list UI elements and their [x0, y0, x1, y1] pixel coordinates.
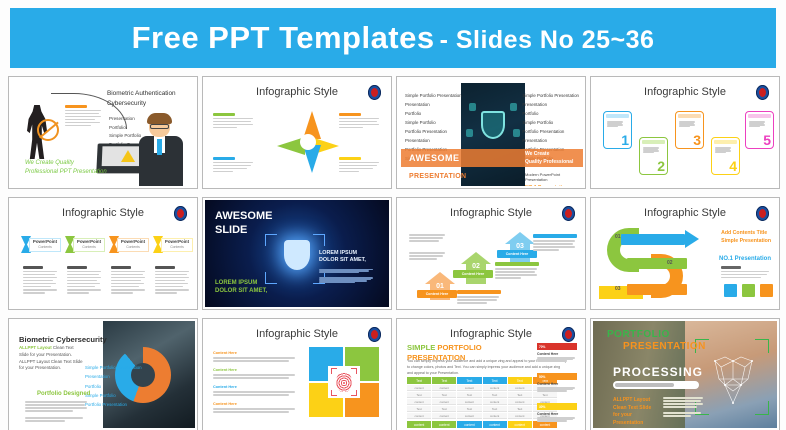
side-card-3: 30% Content Here: [537, 403, 577, 422]
banner-title-sub: - Slides No 25~36: [440, 26, 655, 54]
progress-bar-fill: [615, 383, 674, 387]
slide-10-item-4: Content Here: [213, 402, 297, 414]
step-box-3: 3: [675, 111, 704, 149]
chevron-banner-4: PowerPoint Contents: [153, 236, 193, 253]
slide-6-title: AWESOME SLIDE: [215, 210, 272, 238]
slide-thumbnail-2[interactable]: Infographic Style: [202, 76, 392, 189]
slide-thumbnail-3[interactable]: Simple Portfolio Presentation Presentati…: [396, 76, 586, 189]
table-row: contentcontentcontentcontentcontentconte…: [407, 413, 557, 419]
shield-icon: [481, 111, 505, 139]
slide-thumbnail-12[interactable]: PORTFOLIO PRESENTATION PROCESSING ALLPPT…: [590, 318, 780, 430]
tag-03: Content Here: [497, 250, 537, 258]
slide-11-title: Infographic Style: [399, 328, 583, 340]
allppt-logo-icon: [562, 327, 575, 342]
fingerprint-panel: [328, 366, 360, 398]
warning-triangle-icon: [121, 150, 135, 162]
businessman-figure-icon: [137, 115, 185, 185]
slide-5-column-1: [23, 266, 57, 295]
slide-9-checklist: Simple Portfolio Presentation Presentati…: [85, 363, 142, 409]
note-heading-bar: [65, 105, 87, 108]
chevron-banner-2: PowerPoint Contents: [65, 236, 105, 253]
table-footer-row: content content content content content …: [407, 421, 557, 428]
slide-5-column-2: [67, 266, 101, 295]
slide-7-note-a: [409, 234, 445, 243]
slide-7-card-green: [495, 262, 539, 280]
prohibition-icon: [37, 119, 59, 141]
step-number-03: 03: [615, 286, 621, 292]
slide-7-title: Infographic Style: [399, 207, 583, 219]
step-box-5: 5: [745, 111, 774, 149]
slide-thumbnail-1[interactable]: Biometric Authentication Cybersecurity P…: [8, 76, 198, 189]
slide-canvas-5: Infographic Style PowerPoint Contents Po…: [11, 200, 195, 307]
slide-thumbnail-10[interactable]: Infographic Style Content Here Content H…: [202, 318, 392, 430]
slide-5-column-3: [111, 266, 145, 295]
slide-10-item-1: Content Here: [213, 351, 297, 363]
allppt-logo-icon: [756, 85, 769, 100]
slide-2-text-bottomright: [339, 157, 381, 174]
slide-thumbnail-4[interactable]: Infographic Style 1 2 3: [590, 76, 780, 189]
content-bar-03: [627, 284, 687, 295]
slide-canvas-10: Infographic Style Content Here Content H…: [205, 321, 389, 428]
icon-card-green: [742, 284, 755, 297]
slide-grid: Biometric Authentication Cybersecurity P…: [8, 76, 780, 426]
slide-thumbnail-6[interactable]: AWESOME SLIDE LOREM IPSUM DOLOR SIT AMET…: [202, 197, 392, 310]
table-row: TextTextTextTextTextText: [407, 392, 557, 398]
allppt-logo-icon: [562, 206, 575, 221]
slide-3-title-block: AWESOME PRESENTATION: [405, 149, 461, 186]
slide-12-title-green: PORTFOLIO: [607, 329, 670, 340]
page-root: Free PPT Templates - Slides No 25~36 Bio…: [0, 0, 786, 430]
slide-8-right-text: [721, 266, 771, 280]
slide-2-title: Infographic Style: [205, 86, 389, 98]
content-bar-01: [621, 234, 685, 245]
slide-12-title-orange: PRESENTATION: [623, 341, 706, 352]
slide-canvas-4: Infographic Style 1 2 3: [593, 79, 777, 186]
tag-01: Content Here: [417, 290, 457, 298]
slide-2-text-topright: [339, 113, 381, 130]
slide-4-title: Infographic Style: [593, 86, 777, 98]
allppt-logo-icon: [756, 206, 769, 221]
table-row: contentcontentcontentcontentcontentconte…: [407, 399, 557, 405]
table-row: TextTextTextTextTextText: [407, 406, 557, 412]
slide-6-green-text: LOREM IPSUM DOLOR SIT AMET,: [215, 279, 267, 295]
slide-canvas-3: Simple Portfolio Presentation Presentati…: [399, 79, 583, 186]
slide-2-text-topleft: [213, 113, 255, 130]
slide-8-orange-heading: Add Contents Title Simple Presentation: [721, 230, 771, 246]
slide-thumbnail-8[interactable]: Infographic Style 01 02 03 Add Contents …: [590, 197, 780, 310]
chevron-banner-3: PowerPoint Contents: [109, 236, 149, 253]
slide-1-footer: We Create Quality Professional PPT Prese…: [25, 159, 107, 178]
slide-10-item-3: Content Here: [213, 385, 297, 397]
slide-thumbnail-9[interactable]: Biometric Cybersecurity ALLPPT Layout Cl…: [8, 318, 198, 430]
face-mesh-overlay: [707, 345, 761, 409]
shield-icon: [284, 240, 310, 270]
slide-1-title: Biometric Authentication Cybersecurity: [107, 89, 176, 108]
chevron-banner-1: PowerPoint Contents: [21, 236, 61, 253]
slide-9-title: Biometric Cybersecurity: [19, 335, 107, 344]
slide-9-subtext: [25, 401, 89, 424]
slide-7-card-orange: [457, 290, 501, 305]
fingerprint-icon: [336, 372, 352, 392]
step-box-1: 1: [603, 111, 632, 149]
cybersecurity-photo: [461, 83, 525, 186]
side-card-1: 70% Content Here: [537, 343, 577, 362]
slide-7-note-b: [409, 252, 445, 261]
slide-1-note: [65, 105, 103, 128]
up-arrow-03: 03: [505, 232, 535, 266]
slide-7-card-blue: [533, 234, 577, 252]
slide-canvas-9: Biometric Cybersecurity ALLPPT Layout Cl…: [11, 321, 195, 428]
slide-9-subhead: Portfolio Designed: [37, 391, 90, 397]
step-number-01: 01: [615, 234, 621, 240]
slide-thumbnail-5[interactable]: Infographic Style PowerPoint Contents Po…: [8, 197, 198, 310]
content-bar-02: [627, 258, 687, 269]
slide-3-right-text: We Create Quality Professional Modern Po…: [525, 151, 579, 186]
slide-thumbnail-11[interactable]: Infographic Style SIMPLE PORTFOLIO PRESE…: [396, 318, 586, 430]
allppt-logo-icon: [368, 85, 381, 100]
tag-02: Content Here: [453, 270, 493, 278]
quadrant-graphic: [309, 347, 379, 417]
pinwheel-arrows-graphic: [277, 111, 339, 173]
step-box-2: 2: [639, 137, 668, 175]
allppt-logo-icon: [174, 206, 187, 221]
slide-12-body-text: [663, 397, 705, 419]
header-banner: Free PPT Templates - Slides No 25~36: [10, 8, 776, 68]
step-box-4: 4: [711, 137, 740, 175]
slide-canvas-12: PORTFOLIO PRESENTATION PROCESSING ALLPPT…: [593, 321, 777, 428]
allppt-logo-icon: [368, 327, 381, 342]
slide-10-item-2: Content Here: [213, 368, 297, 380]
slide-5-title: Infographic Style: [11, 207, 195, 219]
slide-canvas-11: Infographic Style SIMPLE PORTFOLIO PRESE…: [399, 321, 583, 428]
progress-bar: [613, 381, 699, 389]
slide-9-paragraph: ALLPPT Layout Clean Text Slide for your …: [19, 345, 83, 372]
data-table: Text Text Text Text Text Text contentcon…: [407, 377, 557, 428]
icon-card-blue: [724, 284, 737, 297]
up-arrow-02: 02: [461, 252, 491, 284]
arrow-head-blue-icon: [685, 230, 699, 248]
slide-2-text-bottomleft: [213, 157, 255, 174]
slide-12-left-text: ALLPPT Layout Clean Text Slide for your …: [613, 397, 657, 427]
slide-canvas-7: Infographic Style 01 Content Here 02 Con…: [399, 200, 583, 307]
slide-canvas-1: Biometric Authentication Cybersecurity P…: [11, 79, 195, 186]
table-header-row: Text Text Text Text Text Text: [407, 377, 557, 384]
processing-label: PROCESSING: [613, 365, 703, 379]
slide-8-title: Infographic Style: [593, 207, 777, 219]
table-row: contentcontentcontentcontentcontentconte…: [407, 385, 557, 391]
banner-title: Free PPT Templates - Slides No 25~36: [132, 20, 655, 56]
slide-8-blue-heading: NO.1 Presentation: [719, 256, 771, 262]
slide-6-white-text: LOREM IPSUM DOLOR SIT AMET,: [319, 250, 381, 283]
slide-canvas-6: AWESOME SLIDE LOREM IPSUM DOLOR SIT AMET…: [205, 200, 389, 307]
slide-10-title: Infographic Style: [205, 328, 389, 340]
step-number-02: 02: [667, 260, 673, 266]
icon-card-orange: [760, 284, 773, 297]
slide-canvas-2: Infographic Style: [205, 79, 389, 186]
banner-title-main: Free PPT Templates: [132, 20, 435, 55]
slide-canvas-8: Infographic Style 01 02 03 Add Contents …: [593, 200, 777, 307]
slide-5-column-4: [155, 266, 189, 295]
side-card-2: 50% Content Here: [537, 373, 577, 392]
slide-thumbnail-7[interactable]: Infographic Style 01 Content Here 02 Con…: [396, 197, 586, 310]
